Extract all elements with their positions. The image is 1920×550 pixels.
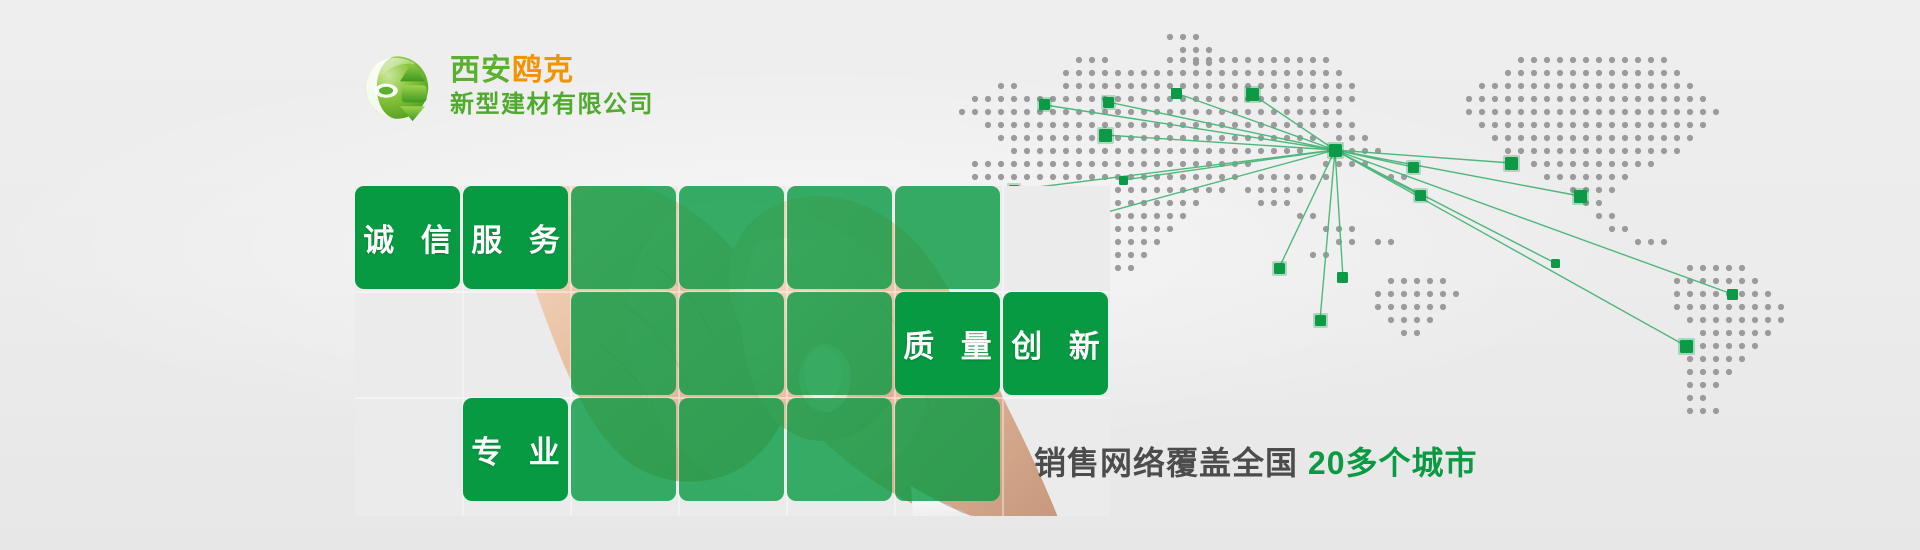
logo-wordmark: 西安鸥克 新型建材有限公司 [450, 56, 654, 117]
value-tile-5-1: 质 量 [895, 292, 1000, 395]
value-tile-label: 诚 信 [355, 186, 460, 289]
value-tile-1-0: 服 务 [463, 186, 568, 289]
tagline-plain-text: 销售网络覆盖全国 [1034, 445, 1298, 481]
green-globe-logo-icon [358, 46, 436, 126]
mosaic-tile-3-2 [679, 398, 784, 501]
logo-brand-text: 鸥克 [512, 54, 574, 87]
sales-network-tagline: 销售网络覆盖全国 20多个城市 [1034, 447, 1478, 479]
mosaic-tile-3-1 [679, 292, 784, 395]
promo-banner: 西安鸥克 新型建材有限公司 [0, 0, 1920, 550]
value-tile-label: 创 新 [1003, 292, 1108, 395]
tile-layer: 诚 信服 务质 量创 新专 业 [355, 186, 1110, 516]
tagline-accent-text: 20多个城市 [1308, 445, 1478, 481]
value-tile-0-0: 诚 信 [355, 186, 460, 289]
mosaic-tile-4-2 [787, 398, 892, 501]
value-tile-mosaic: 诚 信服 务质 量创 新专 业 [355, 186, 1110, 516]
mosaic-tile-5-0 [895, 186, 1000, 289]
mosaic-tile-2-2 [571, 398, 676, 501]
map-connection-lines [1014, 93, 1732, 346]
mosaic-tile-4-1 [787, 292, 892, 395]
logo-line-secondary: 新型建材有限公司 [450, 93, 654, 117]
mosaic-tile-5-2 [895, 398, 1000, 501]
map-city-markers [1007, 86, 1738, 355]
value-tile-label: 服 务 [463, 186, 568, 289]
value-tile-1-2: 专 业 [463, 398, 568, 501]
mosaic-tile-4-0 [787, 186, 892, 289]
logo-city-text: 西安 [450, 54, 512, 87]
value-tile-6-1: 创 新 [1003, 292, 1108, 395]
value-tile-label: 专 业 [463, 398, 568, 501]
mosaic-tile-2-1 [571, 292, 676, 395]
company-logo[interactable]: 西安鸥克 新型建材有限公司 [358, 46, 654, 126]
value-tile-label: 质 量 [895, 292, 1000, 395]
mosaic-tile-3-0 [679, 186, 784, 289]
logo-line-primary: 西安鸥克 [450, 56, 654, 86]
mosaic-tile-2-0 [571, 186, 676, 289]
